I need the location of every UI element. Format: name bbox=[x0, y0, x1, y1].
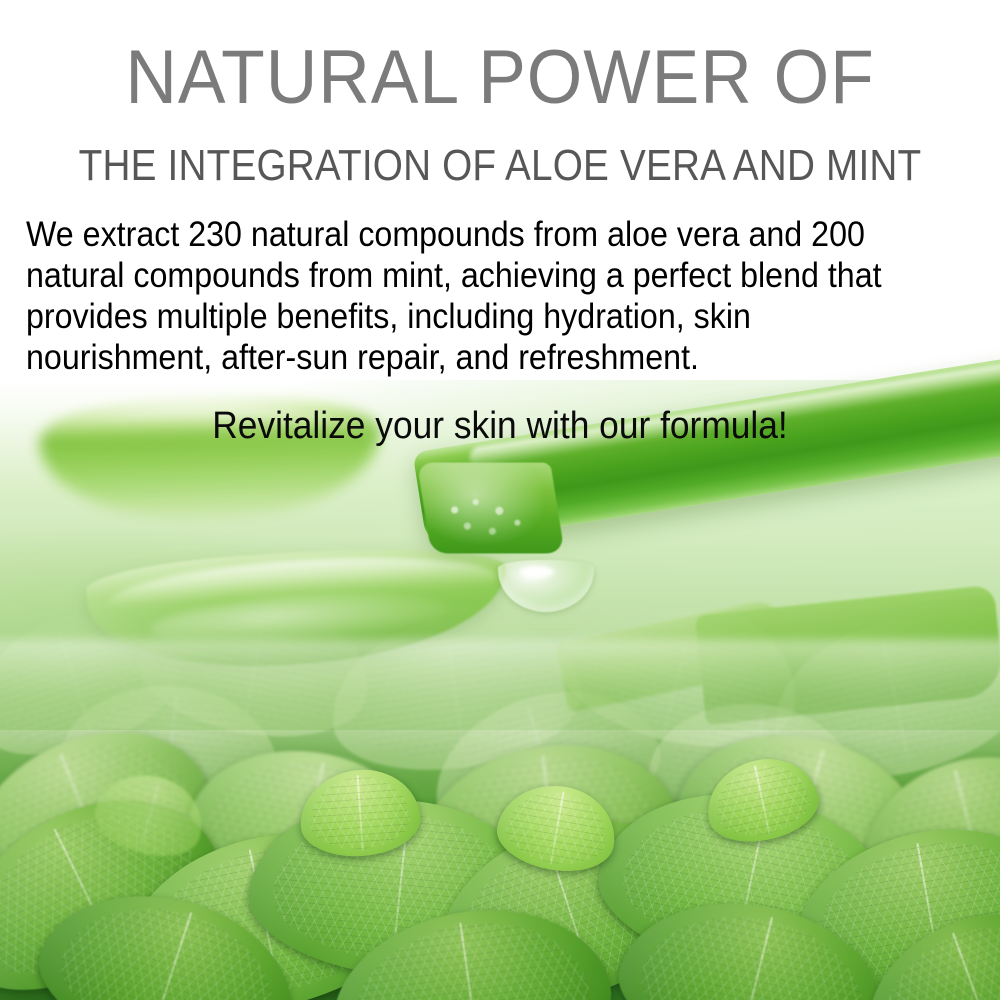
promo-banner: NATURAL POWER OF THE INTEGRATION OF ALOE… bbox=[0, 0, 1000, 1000]
body-copy: We extract 230 natural compounds from al… bbox=[26, 214, 896, 378]
tagline: Revitalize your skin with our formula! bbox=[35, 404, 965, 448]
page-title: NATURAL POWER OF bbox=[30, 36, 970, 120]
mint-leaf-bed bbox=[0, 600, 1000, 1000]
water-droplet-highlight bbox=[520, 566, 554, 578]
page-subtitle: THE INTEGRATION OF ALOE VERA AND MINT bbox=[60, 140, 940, 192]
body-copy-text: We extract 230 natural compounds from al… bbox=[26, 214, 896, 378]
